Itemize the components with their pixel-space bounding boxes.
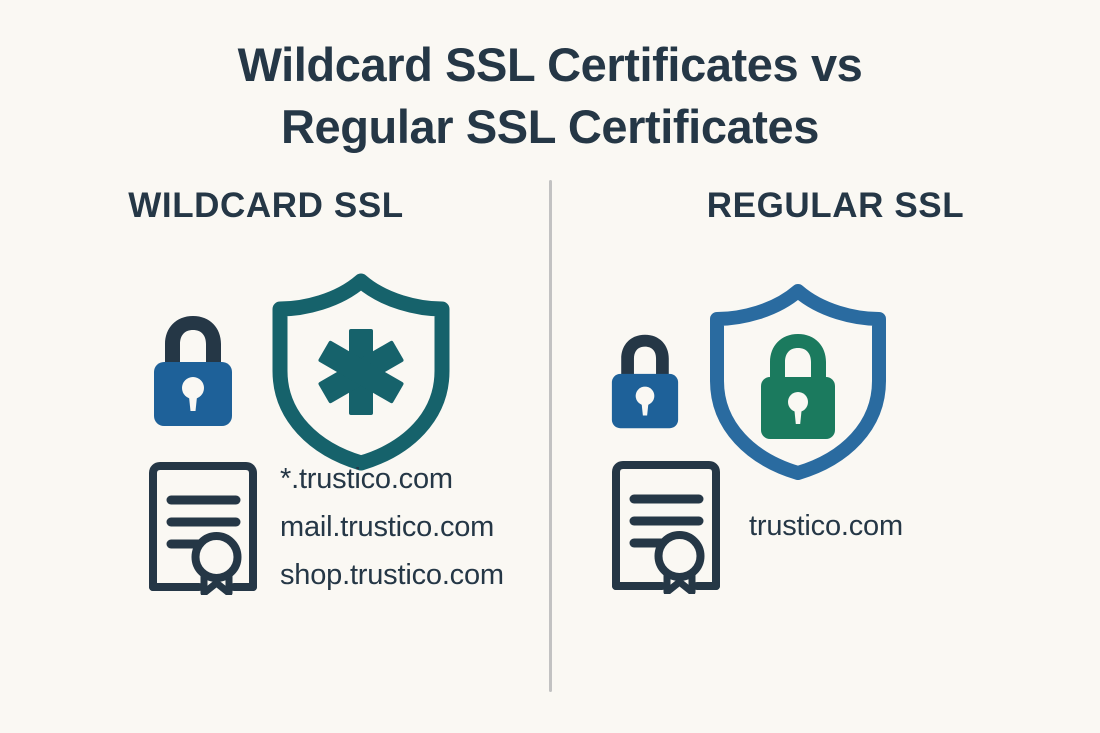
panel-heading-regular: REGULAR SSL <box>571 186 1100 226</box>
domain-entry: trustico.com <box>749 510 903 543</box>
page-title-line-2: Regular SSL Certificates <box>0 96 1100 158</box>
page-title: Wildcard SSL Certificates vs Regular SSL… <box>0 34 1100 158</box>
regular-certificate-row: trustico.com <box>605 458 903 594</box>
padlock-icon <box>146 308 240 434</box>
shield-padlock-icon <box>703 281 893 481</box>
panel-wildcard-ssl: WILDCARD SSL <box>0 186 549 706</box>
domain-entry: mail.trustico.com <box>280 506 504 548</box>
wildcard-icon-row <box>146 271 456 471</box>
page-title-line-1: Wildcard SSL Certificates vs <box>0 34 1100 96</box>
shield-asterisk-icon <box>266 271 456 471</box>
domain-entry: shop.trustico.com <box>280 554 504 596</box>
wildcard-domain-list: *.trustico.com mail.trustico.com shop.tr… <box>280 458 504 596</box>
panel-heading-wildcard: WILDCARD SSL <box>0 186 549 226</box>
certificate-icon <box>142 459 264 595</box>
padlock-icon <box>605 328 685 435</box>
panel-regular-ssl: REGULAR SSL <box>551 186 1100 706</box>
wildcard-certificate-row: *.trustico.com mail.trustico.com shop.tr… <box>142 458 504 596</box>
regular-icon-row <box>605 281 893 481</box>
certificate-icon <box>605 458 727 594</box>
domain-entry: *.trustico.com <box>280 458 504 500</box>
